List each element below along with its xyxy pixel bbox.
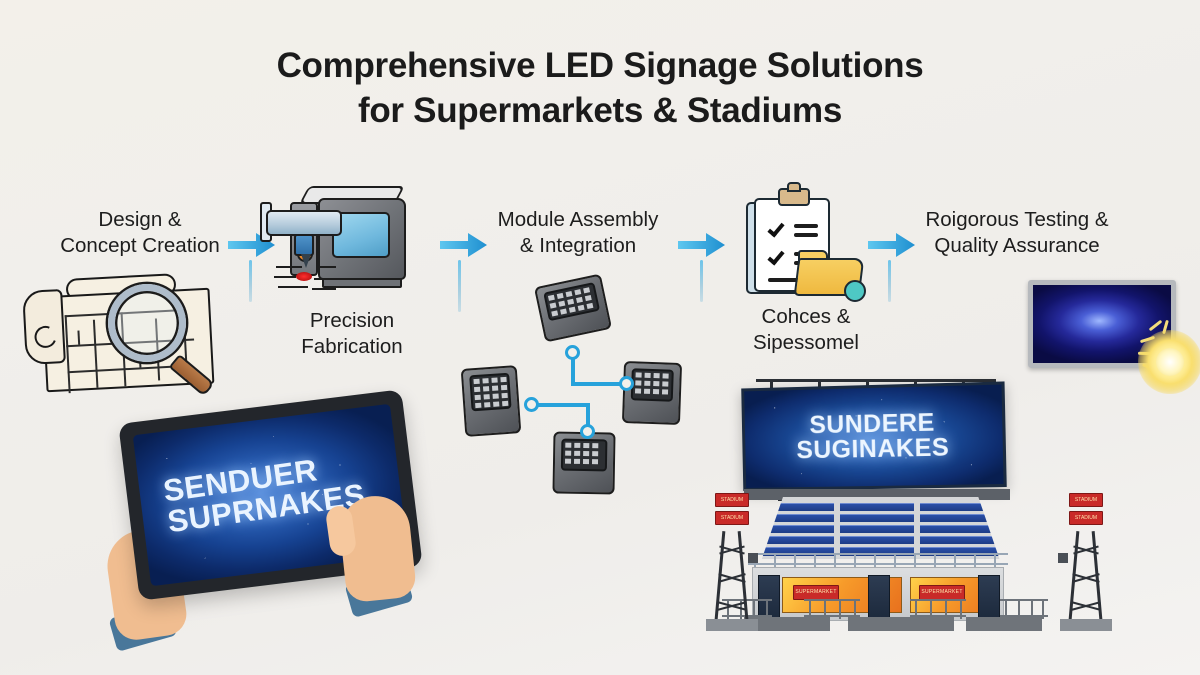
step-label-cohces-sipessomel: Cohces & Sipessomel	[722, 304, 890, 356]
billboard-text-line-2: SUGINAKES	[796, 435, 949, 463]
infographic-canvas: Comprehensive LED Signage Solutions for …	[0, 0, 1200, 675]
arrow-2-icon	[440, 230, 488, 265]
module-led-grid	[469, 373, 511, 412]
step-label-precision-fabrication: Precision Fabrication	[272, 308, 432, 360]
ground-railing-midright	[910, 599, 966, 617]
led-module-right	[622, 361, 682, 425]
stadium-door-right	[978, 575, 1000, 619]
led-module-network-icon	[455, 272, 675, 497]
link-node-left	[524, 397, 539, 412]
link-node-top	[565, 345, 580, 360]
ad-brand-box-right: SUPERMARKET	[919, 585, 965, 600]
connector-line-1	[249, 260, 252, 302]
stadium-base-right	[966, 617, 1042, 631]
module-led-grid	[561, 439, 608, 472]
stadium-base-center	[848, 617, 954, 631]
step-4-label-line-2: Sipessomel	[722, 330, 890, 356]
blueprint-curl	[31, 323, 60, 352]
floodlight-tower-left: STADIUM STADIUM	[714, 519, 750, 631]
title-line-2: for Supermarkets & Stadiums	[0, 89, 1200, 134]
stadium-stand	[746, 497, 1010, 559]
tower-base-right	[1060, 619, 1112, 631]
tower-sign-right-1: STADIUM	[1069, 493, 1103, 507]
laser-cutting-machine-icon	[260, 180, 435, 300]
led-module-bottom	[552, 431, 615, 494]
page-title: Comprehensive LED Signage Solutions for …	[0, 44, 1200, 134]
led-display-glow-icon	[1028, 280, 1200, 400]
tower-base-left	[706, 619, 758, 631]
title-line-1: Comprehensive LED Signage Solutions	[0, 44, 1200, 89]
step-label-rigorous-testing: Roigorous Testing & Quality Assurance	[908, 207, 1126, 259]
step-1-label-line-2: Concept Creation	[42, 233, 238, 259]
module-led-grid	[631, 368, 674, 402]
magnifier-lens	[108, 284, 186, 362]
stadium-door-center	[868, 575, 890, 619]
tower-lamp-right	[1058, 553, 1068, 563]
checkmark-1-icon	[767, 219, 784, 237]
tower-sign-right-2: STADIUM	[1069, 511, 1103, 525]
tablet-in-hands-illustration: SENDUER SUPRNAKES	[100, 398, 430, 663]
step-2-label-line-1: Precision	[272, 308, 432, 334]
connector-line-3	[700, 260, 703, 302]
led-module-top	[534, 274, 612, 343]
step-4-label-line-1: Cohces &	[722, 304, 890, 330]
tower-sign-text: STADIUM	[1070, 515, 1102, 521]
step-label-module-assembly: Module Assembly & Integration	[478, 207, 678, 259]
checkmark-2-icon	[767, 247, 784, 265]
step-label-design-concept: Design & Concept Creation	[42, 207, 238, 259]
machine-arm	[266, 210, 342, 236]
laser-beam-dot	[296, 272, 312, 281]
link-node-right	[619, 376, 634, 391]
floodlight-tower-right: STADIUM STADIUM	[1068, 519, 1104, 631]
stadium-illustration: SUNDERE SUGINAKES	[700, 385, 1140, 650]
tower-sign-left-2: STADIUM	[715, 511, 749, 525]
led-module-left	[461, 365, 522, 437]
ad-brand-box-left: SUPERMARKET	[793, 585, 839, 600]
ad-brand-text: SUPERMARKET	[920, 589, 964, 595]
tower-sign-text: STADIUM	[716, 515, 748, 521]
billboard-signage-text: SUNDERE SUGINAKES	[796, 410, 950, 463]
clipboard-clip-top	[787, 182, 801, 192]
link-node-bottom	[580, 424, 595, 439]
billboard-truss-top	[756, 379, 996, 382]
ground-railing-right	[1000, 599, 1048, 617]
step-5-label-line-2: Quality Assurance	[908, 233, 1126, 259]
stadium-billboard-screen: SUNDERE SUGINAKES	[741, 381, 1007, 491]
connector-line-4	[888, 260, 891, 302]
tower-lamp-left	[748, 553, 758, 563]
ground-railing-midleft	[804, 599, 860, 617]
folder-badge-dot	[844, 280, 866, 302]
tower-sign-text: STADIUM	[716, 497, 748, 503]
step-5-label-line-1: Roigorous Testing &	[908, 207, 1126, 233]
clipboard-checklist-icon	[740, 186, 872, 304]
module-led-grid	[543, 282, 600, 321]
checklist-line-1b	[794, 233, 818, 237]
ad-brand-text: SUPERMARKET	[794, 589, 838, 595]
machine-laser-nozzle	[301, 254, 311, 268]
link-segment-3	[531, 403, 589, 407]
machine-laser-head	[294, 234, 314, 256]
brightness-sun-icon	[1156, 348, 1184, 376]
stadium-front-railing	[748, 553, 1008, 565]
step-2-label-line-2: Fabrication	[272, 334, 432, 360]
checklist-line-1a	[794, 224, 818, 228]
blueprint-roll-left	[22, 289, 66, 365]
step-3-label-line-2: & Integration	[478, 233, 678, 259]
tower-sign-text: STADIUM	[1070, 497, 1102, 503]
step-3-label-line-1: Module Assembly	[478, 207, 678, 233]
step-1-label-line-1: Design &	[42, 207, 238, 233]
arrow-4-icon	[868, 230, 916, 265]
tower-sign-left-1: STADIUM	[715, 493, 749, 507]
blueprint-magnifier-icon	[22, 272, 232, 397]
